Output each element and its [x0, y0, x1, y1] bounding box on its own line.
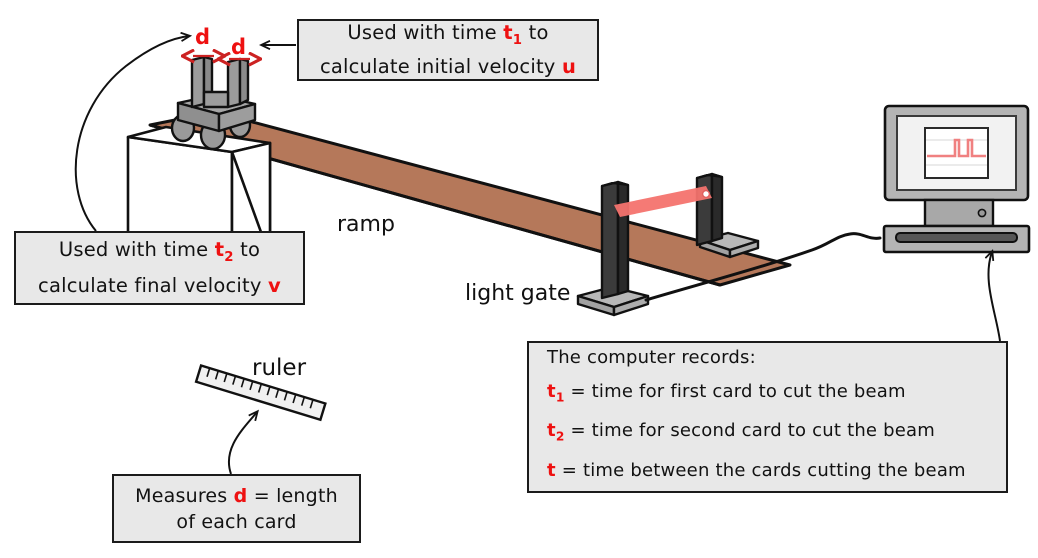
initial-velocity-callout: Used with time t1 to calculate initial v…: [297, 19, 599, 81]
power-led: [978, 209, 985, 216]
cart-group: [172, 57, 255, 149]
initial-symbol-t-sub: 1: [513, 33, 522, 48]
light-gate-near-post: [602, 182, 618, 298]
leader-records: [988, 252, 1000, 341]
records-row-0-text: = time for first card to cut the beam: [570, 381, 905, 402]
leader-ruler: [229, 412, 257, 474]
initial-line1-suffix: to: [522, 21, 548, 44]
light-gate-far-post: [697, 174, 712, 245]
initial-velocity-line-2: calculate initial velocity u: [320, 54, 576, 80]
card-width-label-two: d: [231, 35, 246, 59]
keyboard-slot: [896, 233, 1017, 242]
ruler-label: ruler: [252, 355, 306, 381]
light-beam-emitter-dot: [703, 191, 710, 198]
diagram-canvas: ramp light gate ruler d d Used with time…: [0, 0, 1038, 558]
ruler-line1-suffix: = length: [247, 485, 337, 507]
records-row-1-text: = time for second card to cut the beam: [570, 420, 935, 441]
records-row-1-sub: 2: [556, 430, 565, 444]
light-gate-far-post-side: [712, 174, 722, 241]
final-symbol-t: t: [215, 238, 225, 261]
records-row-2-text: = time between the cards cutting the bea…: [562, 460, 966, 481]
final-velocity-line-1: Used with time t2 to: [59, 236, 260, 272]
final-symbol-t-sub: 2: [224, 250, 233, 265]
records-row-0-sub: 1: [556, 390, 565, 404]
records-row-0-symbol: t: [547, 381, 556, 402]
records-heading: The computer records:: [547, 341, 756, 375]
computer-records-callout: The computer records: t1 = time for firs…: [527, 341, 1008, 493]
records-row: t2 = time for second card to cut the bea…: [547, 414, 935, 454]
final-velocity-line-2: calculate final velocity v: [38, 272, 281, 300]
records-row-1-symbol: t: [547, 420, 556, 441]
monitor-graph-window: [925, 128, 988, 178]
final-velocity-callout: Used with time t2 to calculate final vel…: [14, 231, 305, 305]
ruler-measures-callout: Measures d = length of each card: [112, 474, 361, 543]
final-line1-prefix: Used with time: [59, 238, 215, 261]
records-row-2-symbol: t: [547, 460, 556, 481]
light-gate-label: light gate: [465, 281, 570, 306]
initial-line1-prefix: Used with time: [347, 21, 503, 44]
final-line1-suffix: to: [234, 238, 260, 261]
final-line2-prefix: calculate final velocity: [38, 274, 268, 297]
light-gate-near-post-side: [618, 182, 628, 294]
computer-group: [884, 106, 1029, 252]
cart-card-bridge: [204, 92, 228, 107]
records-row: t1 = time for first card to cut the beam: [547, 375, 906, 415]
initial-velocity-line-1: Used with time t1 to: [347, 20, 548, 54]
final-symbol-v: v: [268, 274, 281, 297]
ruler-line1-prefix: Measures: [135, 485, 234, 507]
records-row: t = time between the cards cutting the b…: [547, 454, 966, 494]
cart-card-two: [228, 59, 240, 107]
cart-card-one: [192, 57, 204, 107]
initial-symbol-u: u: [562, 55, 576, 78]
initial-symbol-t: t: [503, 21, 513, 44]
ramp-label: ramp: [337, 212, 395, 237]
card-width-label-one: d: [195, 25, 210, 49]
ruler-measures-line-1: Measures d = length: [135, 483, 338, 509]
ruler-symbol-d: d: [234, 485, 248, 507]
initial-line2-prefix: calculate initial velocity: [320, 55, 562, 78]
cart-card-two-side: [240, 59, 248, 104]
ruler-measures-line-2: of each card: [176, 509, 296, 535]
